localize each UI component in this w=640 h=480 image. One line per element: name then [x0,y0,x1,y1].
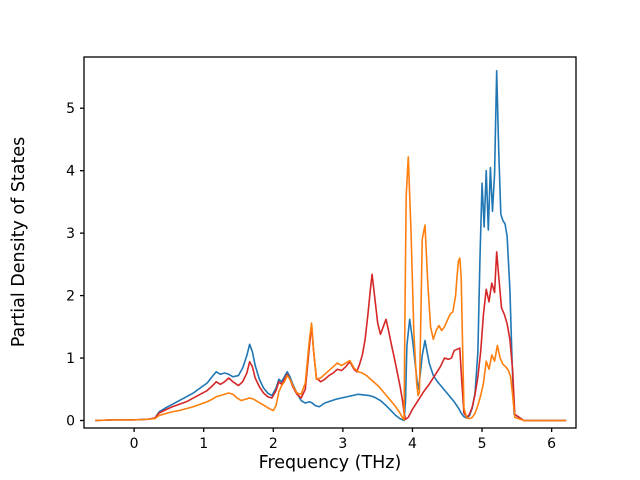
x-tick-label: 4 [408,436,417,452]
figure-background [0,0,640,480]
y-tick-label: 4 [66,164,75,180]
x-tick-label: 3 [338,436,347,452]
y-tick-label: 2 [66,289,75,305]
y-tick-label: 5 [66,101,75,117]
plot-svg: 0123456 012345 Frequency (THz) Partial D… [0,0,640,480]
x-tick-label: 5 [478,436,487,452]
y-axis-label: Partial Density of States [9,137,29,348]
y-tick-label: 3 [66,226,75,242]
x-tick-label: 1 [199,436,208,452]
x-tick-label: 6 [547,436,556,452]
x-tick-label: 2 [269,436,278,452]
x-tick-label: 0 [130,436,139,452]
x-axis-label: Frequency (THz) [259,453,402,473]
figure-canvas: 0123456 012345 Frequency (THz) Partial D… [0,0,640,480]
y-tick-label: 1 [66,351,75,367]
y-tick-label: 0 [66,414,75,430]
